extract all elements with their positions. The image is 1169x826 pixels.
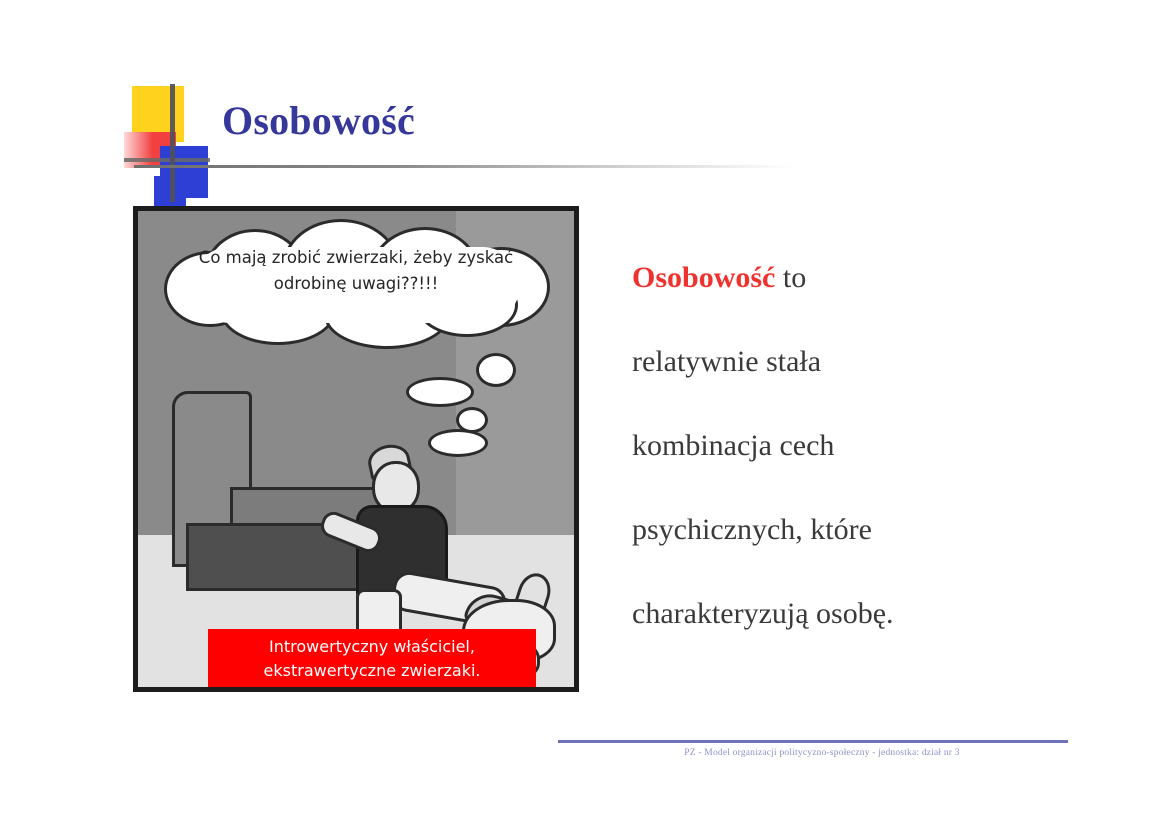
thought-tail-bubble-3 xyxy=(456,407,488,433)
definition-line-2: relatywnie stała xyxy=(632,320,1062,404)
definition-line-1-rest: to xyxy=(775,261,806,294)
bubble-text: Co mają zrobić zwierzaki, żeby zyskać od… xyxy=(194,245,518,297)
cartoon-illustration: Co mają zrobić zwierzaki, żeby zyskać od… xyxy=(133,206,579,692)
caption-banner: Introwertyczny właściciel, ekstrawertycz… xyxy=(208,629,536,691)
logo-horizontal-bar xyxy=(124,158,210,162)
definition-line-4: psychicznych, które xyxy=(632,488,1062,572)
footer-text: PZ - Model organizacji politycyzno-społe… xyxy=(572,748,1072,758)
thought-tail-bubble-1 xyxy=(476,353,516,387)
caption-text: Introwertyczny właściciel, ekstrawertycz… xyxy=(216,635,528,683)
title-divider xyxy=(134,165,794,168)
definition-line-3: kombinacja cech xyxy=(632,404,1062,488)
logo-decoration xyxy=(124,84,210,202)
definition-text: Osobowość to relatywnie stała kombinacja… xyxy=(632,236,1062,656)
definition-keyword: Osobowość xyxy=(632,261,775,294)
slide-canvas: Osobowość xyxy=(0,0,1169,826)
thought-bubble: Co mają zrobić zwierzaki, żeby zyskać od… xyxy=(164,225,548,343)
thought-tail-bubble-2 xyxy=(406,377,474,407)
thought-tail-bubble-4 xyxy=(428,429,488,457)
definition-line-5: charakteryzują osobę. xyxy=(632,572,1062,656)
definition-line-1: Osobowość to xyxy=(632,236,1062,320)
logo-vertical-bar xyxy=(170,84,175,202)
page-title: Osobowość xyxy=(222,97,415,144)
footer-divider xyxy=(558,740,1068,743)
